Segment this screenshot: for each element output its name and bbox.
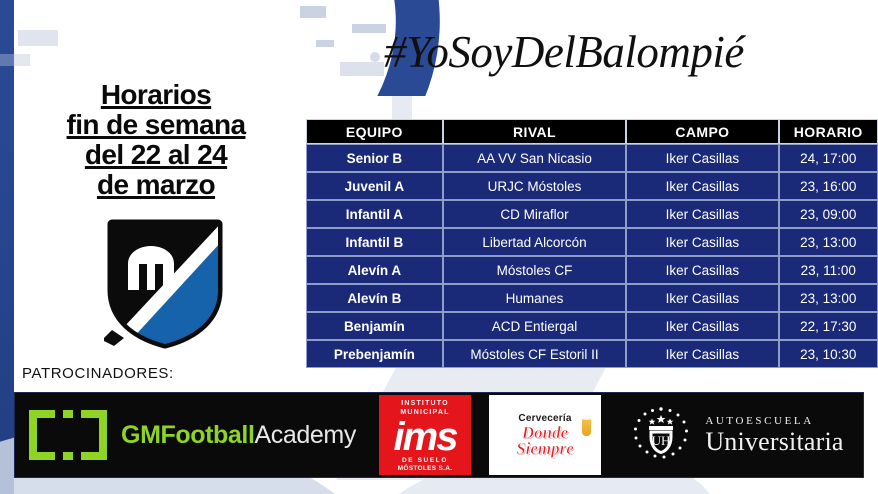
cell-rival: ACD Entiergal: [443, 312, 627, 340]
sponsor-bar: GMFootballAcademy INSTITUTO MUNICIPAL im…: [14, 392, 864, 478]
cell-campo: Iker Casillas: [626, 228, 778, 256]
ims-monogram: ims: [379, 417, 471, 457]
column-header-campo: CAMPO: [626, 119, 778, 144]
cell-horario: 23, 09:00: [779, 200, 878, 228]
sponsors-label: PATROCINADORES:: [22, 365, 174, 382]
table-row: Infantil A CD Miraflor Iker Casillas 23,…: [306, 200, 878, 228]
table-header-row: EQUIPO RIVAL CAMPO HORARIO: [306, 119, 878, 144]
cell-equipo: Juvenil A: [306, 172, 443, 200]
headline-line-4: de marzo: [20, 170, 292, 200]
cell-horario: 23, 16:00: [779, 172, 878, 200]
cell-campo: Iker Casillas: [626, 256, 778, 284]
cell-rival: AA VV San Nicasio: [443, 144, 627, 172]
cell-horario: 23, 13:00: [779, 228, 878, 256]
table-row: Juvenil A URJC Móstoles Iker Casillas 23…: [306, 172, 878, 200]
sponsor-logo-cerveceria-donde-siempre[interactable]: Cervecería Donde Siempre: [480, 393, 610, 477]
sponsor-logo-autoescuela-universitaria[interactable]: UH AUTOESCUELA Universitaria: [610, 393, 863, 477]
speck-decoration: [18, 30, 58, 46]
campaign-hashtag: #YoSoyDelBalompié: [384, 26, 744, 78]
cerveceria-script-line-2: Siempre: [516, 441, 574, 457]
ims-line-4: MÓSTOLES S.A.: [379, 465, 471, 473]
cell-campo: Iker Casillas: [626, 284, 778, 312]
cell-equipo: Benjamín: [306, 312, 443, 340]
beer-glass-icon: [582, 419, 591, 436]
gm-name-bold: GMFootball: [121, 421, 254, 449]
cell-rival: CD Miraflor: [443, 200, 627, 228]
page-title: Horarios fin de semana del 22 al 24 de m…: [20, 80, 292, 200]
table-row: Infantil B Libertad Alcorcón Iker Casill…: [306, 228, 878, 256]
cell-campo: Iker Casillas: [626, 144, 778, 172]
bracket-frame-icon: [29, 410, 107, 460]
speck-decoration: [370, 52, 380, 62]
headline-line-2: fin de semana: [20, 110, 292, 140]
cell-campo: Iker Casillas: [626, 200, 778, 228]
speck-decoration: [352, 24, 386, 33]
cell-campo: Iker Casillas: [626, 340, 778, 368]
cell-rival: URJC Móstoles: [443, 172, 627, 200]
table-row: Prebenjamín Móstoles CF Estoril II Iker …: [306, 340, 878, 368]
autoescuela-top-text: AUTOESCUELA: [705, 415, 843, 427]
club-crest-icon: [104, 218, 226, 350]
headline-line-3: del 22 al 24: [20, 140, 292, 170]
sponsor-logo-gm-football-academy[interactable]: GMFootballAcademy: [15, 393, 370, 477]
autoescuela-main-text: Universitaria: [705, 428, 843, 455]
cell-horario: 24, 17:00: [779, 144, 878, 172]
cell-equipo: Alevín A: [306, 256, 443, 284]
gm-name-light: Academy: [255, 421, 356, 449]
ims-line-3: DE SUELO: [379, 457, 471, 465]
poster-root: #YoSoyDelBalompié Horarios fin de semana…: [0, 0, 878, 494]
svg-text:UH: UH: [652, 433, 671, 448]
cell-equipo: Infantil A: [306, 200, 443, 228]
table-row: Benjamín ACD Entiergal Iker Casillas 22,…: [306, 312, 878, 340]
table-row: Alevín B Humanes Iker Casillas 23, 13:00: [306, 284, 878, 312]
cell-campo: Iker Casillas: [626, 172, 778, 200]
table-row: Alevín A Móstoles CF Iker Casillas 23, 1…: [306, 256, 878, 284]
cell-equipo: Alevín B: [306, 284, 443, 312]
cell-rival: Móstoles CF Estoril II: [443, 340, 627, 368]
speck-decoration: [300, 6, 326, 18]
cell-rival: Móstoles CF: [443, 256, 627, 284]
speck-decoration: [0, 54, 30, 66]
table-row: Senior B AA VV San Nicasio Iker Casillas…: [306, 144, 878, 172]
cell-horario: 22, 17:30: [779, 312, 878, 340]
cell-horario: 23, 13:00: [779, 284, 878, 312]
sponsor-logo-instituto-municipal-del-suelo[interactable]: INSTITUTO MUNICIPAL ims DE SUELO MÓSTOLE…: [370, 393, 480, 477]
cell-rival: Libertad Alcorcón: [443, 228, 627, 256]
cell-rival: Humanes: [443, 284, 627, 312]
left-blue-band-decoration: [0, 0, 14, 494]
cell-horario: 23, 10:30: [779, 340, 878, 368]
cell-horario: 23, 11:00: [779, 256, 878, 284]
schedule-table: EQUIPO RIVAL CAMPO HORARIO Senior B AA V…: [306, 119, 878, 368]
cell-equipo: Infantil B: [306, 228, 443, 256]
cell-equipo: Senior B: [306, 144, 443, 172]
column-header-horario: HORARIO: [779, 119, 878, 144]
cell-campo: Iker Casillas: [626, 312, 778, 340]
cell-equipo: Prebenjamín: [306, 340, 443, 368]
speck-decoration: [340, 62, 384, 76]
speck-decoration: [316, 40, 334, 47]
headline-line-1: Horarios: [20, 80, 292, 110]
column-header-rival: RIVAL: [443, 119, 627, 144]
ims-line-1: INSTITUTO: [379, 400, 471, 409]
crowned-shield-icon: UH: [629, 403, 693, 467]
column-header-equipo: EQUIPO: [306, 119, 443, 144]
